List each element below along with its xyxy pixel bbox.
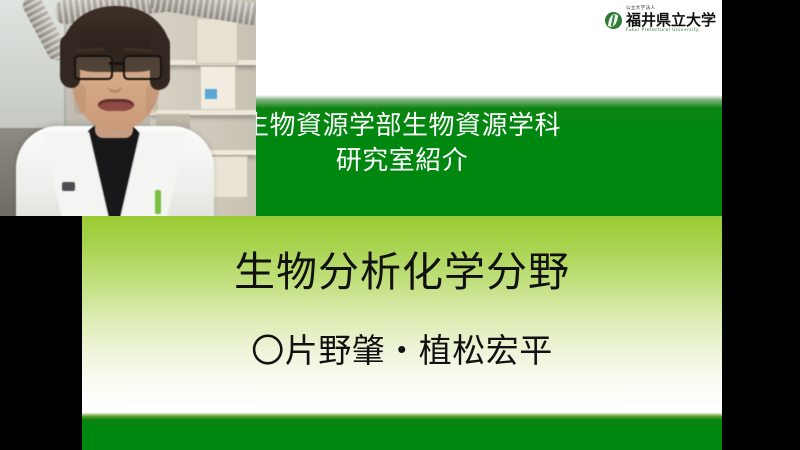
pocket-pen: [155, 190, 161, 214]
eyeglass-lens: [123, 55, 162, 80]
logo-university-name-en: Fukui Prefectural University: [626, 29, 716, 33]
presenter-video-overlay[interactable]: [0, 0, 256, 216]
eyeglasses-icon: [72, 55, 160, 77]
face-shading: [74, 84, 86, 114]
presenter-person: [0, 0, 256, 216]
letterbox-bar-right: [722, 0, 800, 450]
university-logo-text: 公立大学法人 福井県立大学 Fukui Prefectural Universi…: [626, 7, 716, 33]
author-names: 〇片野肇・植松宏平: [82, 334, 722, 367]
department-title: 生物分析化学分野: [82, 252, 722, 293]
university-logo: 公立大学法人 福井県立大学 Fukui Prefectural Universi…: [605, 7, 716, 33]
slide-body-area: 生物分析化学分野 〇片野肇・植松宏平: [82, 216, 722, 413]
eyeglass-bridge: [109, 62, 123, 65]
presenter-mouth: [98, 99, 134, 111]
lab-coat-badge: [62, 182, 75, 191]
university-seal-icon: [605, 12, 622, 29]
logo-university-name-jp: 福井県立大学: [626, 13, 716, 28]
video-player-frame: 公立大学法人 福井県立大学 Fukui Prefectural Universi…: [0, 0, 800, 450]
presenter-nose: [108, 76, 122, 93]
slide-footer-bar: [82, 413, 722, 450]
